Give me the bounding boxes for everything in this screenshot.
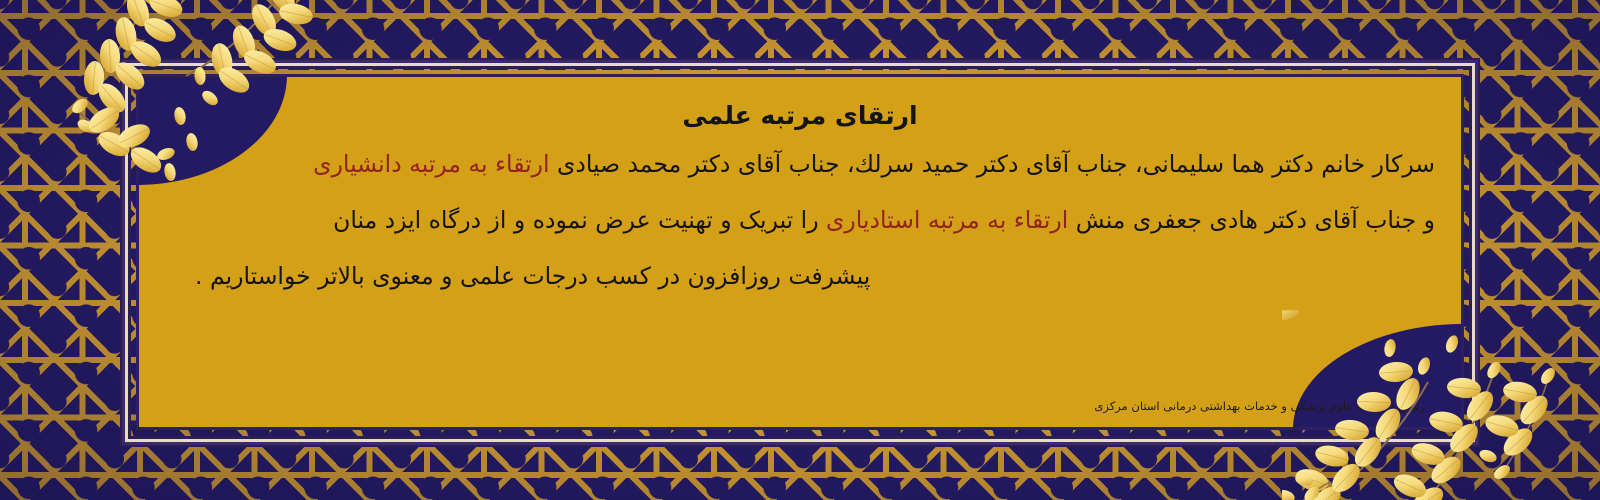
announcement-card: ارتقای مرتبه علمی سرکار خانم دکتر هما سل… [136,74,1464,430]
announcement-line-2: و جناب آقای دکتر هادی جعفری منش ارتقاء ب… [165,203,1435,237]
text-segment: را تبریک و تهنیت عرض نموده و از درگاه ای… [333,206,826,234]
text-segment: و جناب آقای دکتر هادی جعفری منش [1068,206,1435,234]
page-title: ارتقای مرتبه علمی [165,101,1435,131]
highlighted-text-segment: ارتقاء به مرتبه دانشیاری [313,150,549,178]
announcement-line-1: سرکار خانم دکتر هما سلیمانی، جناب آقای د… [165,147,1435,181]
announcement-body: سرکار خانم دکتر هما سلیمانی، جناب آقای د… [165,147,1435,399]
signature-line: رئیس دانشگاه علوم پزشکی و خدمات بهداشتی … [165,399,1435,413]
card-content: ارتقای مرتبه علمی سرکار خانم دکتر هما سل… [139,77,1461,427]
text-segment: سرکار خانم دکتر هما سلیمانی، جناب آقای د… [550,150,1435,178]
announcement-line-3: پیشرفت روزافزون در کسب درجات علمی و معنو… [165,259,1435,293]
text-segment: پیشرفت روزافزون در کسب درجات علمی و معنو… [195,262,870,290]
highlighted-text-segment: ارتقاء به مرتبه استادیاری [826,206,1068,234]
announcement-banner: ارتقای مرتبه علمی سرکار خانم دکتر هما سل… [0,0,1600,500]
